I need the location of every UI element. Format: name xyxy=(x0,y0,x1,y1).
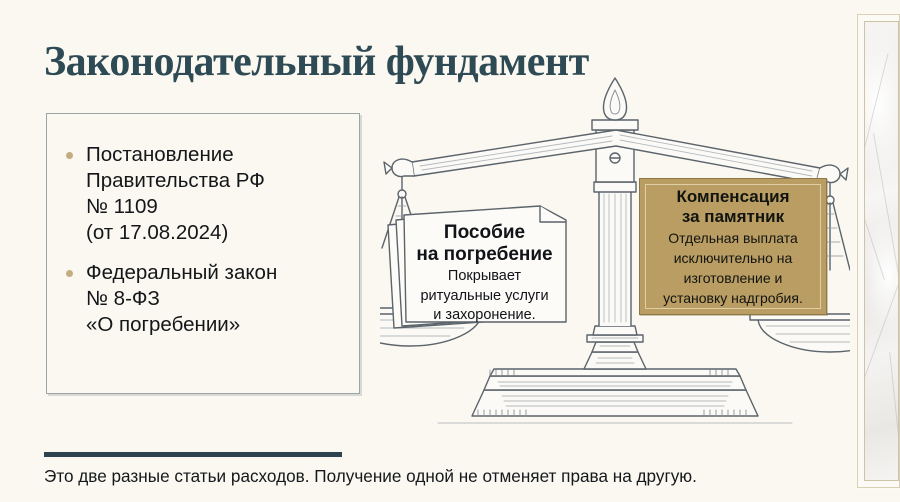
marble-vein xyxy=(864,194,885,280)
list-item-line: Постановление xyxy=(86,142,364,168)
footer-divider xyxy=(44,452,342,457)
list-item-line: Правительства РФ xyxy=(86,168,364,194)
benefit-subtitle-line: Покрывает xyxy=(403,268,566,286)
benefit-label: Пособие на погребение Покрывает ритуальн… xyxy=(403,222,566,325)
benefit-subtitle-line: и захоронение. xyxy=(403,307,566,325)
list-item-line: «О погребении» xyxy=(86,312,364,338)
footer-note: Это две разные статьи расходов. Получени… xyxy=(44,466,818,487)
scales-column-foot xyxy=(584,326,646,369)
list-item-line: № 8-ФЗ xyxy=(86,286,364,312)
scales-base xyxy=(438,369,792,423)
compensation-subtitle-line: исключительно на xyxy=(674,250,793,267)
compensation-subtitle-line: изготовление и xyxy=(684,270,783,287)
marble-vein xyxy=(873,133,899,291)
compensation-plaque: Компенсация за памятник Отдельная выплат… xyxy=(639,178,827,315)
slide-canvas: Законодательный фундамент Постановление … xyxy=(0,0,900,502)
compensation-title-line: за памятник xyxy=(682,207,784,227)
legal-basis-list: Постановление Правительства РФ № 1109 (о… xyxy=(64,142,364,352)
compensation-subtitle-line: Отдельная выплата xyxy=(668,230,798,247)
compensation-plaque-inner: Компенсация за памятник Отдельная выплат… xyxy=(645,184,821,309)
list-item: Федеральный закон № 8-ФЗ «О погребении» xyxy=(64,260,364,338)
benefit-title-line: на погребение xyxy=(403,244,566,266)
scales-right-pan xyxy=(750,314,850,352)
scales-finial xyxy=(603,78,626,120)
marble-vein xyxy=(889,352,899,462)
compensation-title-line: Компенсация xyxy=(676,187,789,207)
list-item-line: (от 17.08.2024) xyxy=(86,220,364,246)
scales-column xyxy=(592,120,638,326)
compensation-subtitle-line: установку надгробия. xyxy=(663,290,803,307)
list-item-line: № 1109 xyxy=(86,194,364,220)
marble-outer-frame xyxy=(857,14,900,488)
benefit-subtitle-line: ритуальные услуги xyxy=(403,288,566,306)
list-item-line: Федеральный закон xyxy=(86,260,364,286)
benefit-title-line: Пособие xyxy=(403,222,566,244)
list-item: Постановление Правительства РФ № 1109 (о… xyxy=(64,142,364,246)
marble-texture xyxy=(864,21,899,481)
marble-decorative-panel xyxy=(855,12,900,490)
